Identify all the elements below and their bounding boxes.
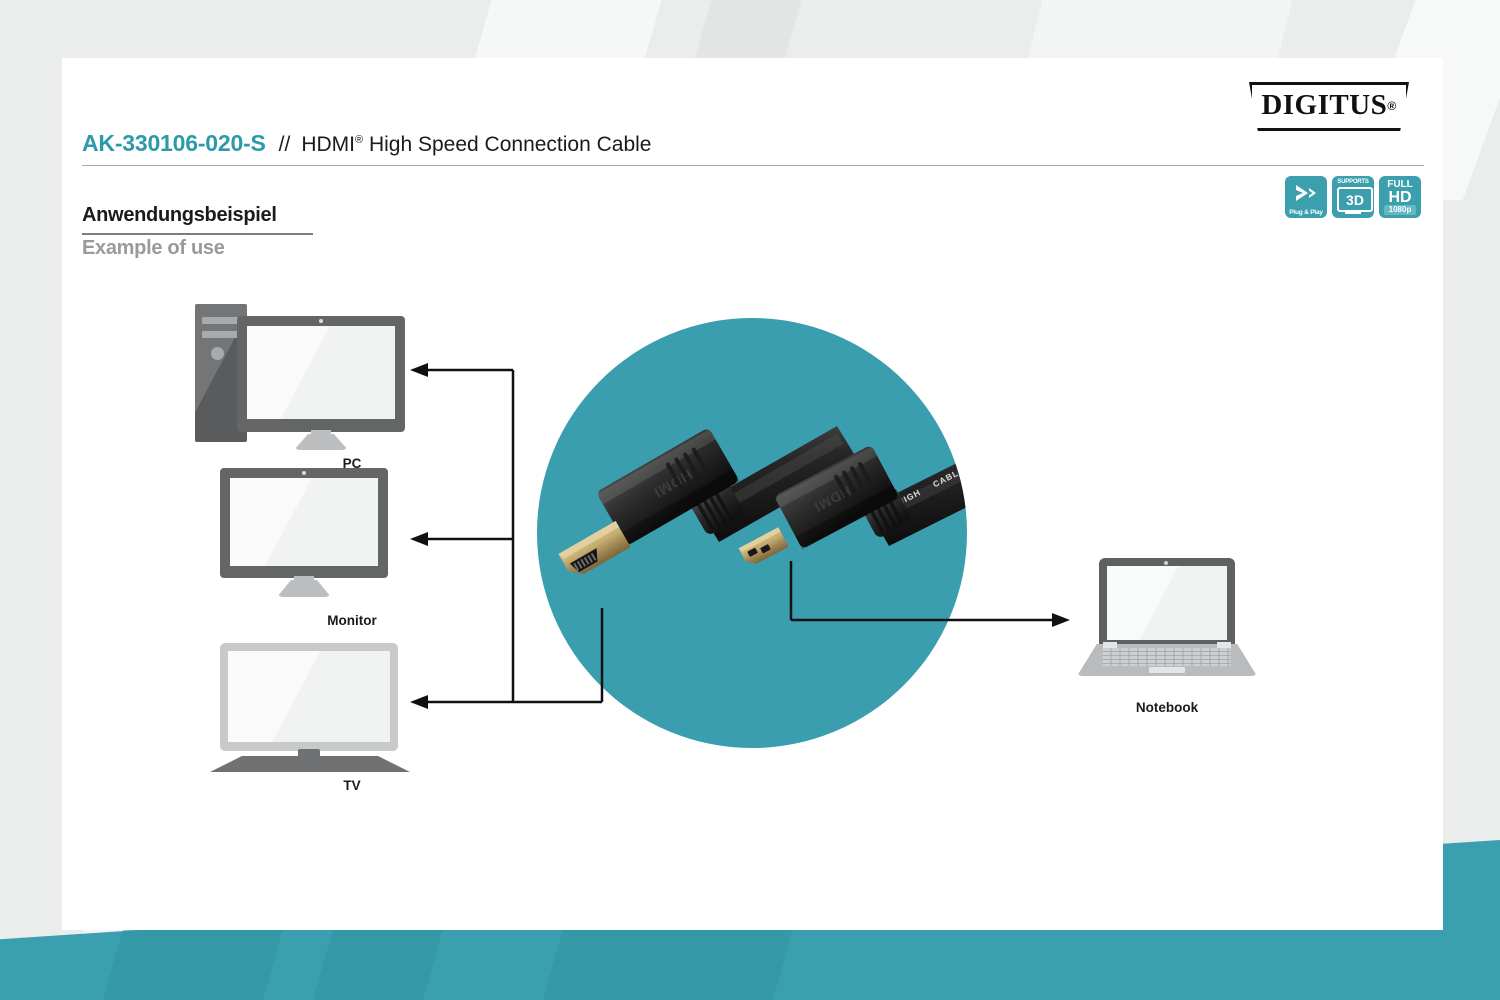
product-datasheet-page: DIGITUS® AK-330106-020-S // HDMI® High S… xyxy=(0,0,1500,1000)
content-card: DIGITUS® AK-330106-020-S // HDMI® High S… xyxy=(62,58,1443,930)
arrow-to-pc xyxy=(410,363,428,377)
usage-diagram: PC Monitor TV xyxy=(62,58,1443,930)
arrow-to-monitor xyxy=(410,532,428,546)
digitus-logo: DIGITUS® xyxy=(1249,82,1409,131)
registered-trademark-icon: ® xyxy=(1387,99,1396,113)
logo-wordmark-text: DIGITUS xyxy=(1261,89,1387,122)
arrow-to-notebook xyxy=(1052,613,1070,627)
arrow-to-tv xyxy=(410,695,428,709)
connection-lines xyxy=(62,58,1443,930)
logo-wordmark: DIGITUS® xyxy=(1249,82,1409,131)
